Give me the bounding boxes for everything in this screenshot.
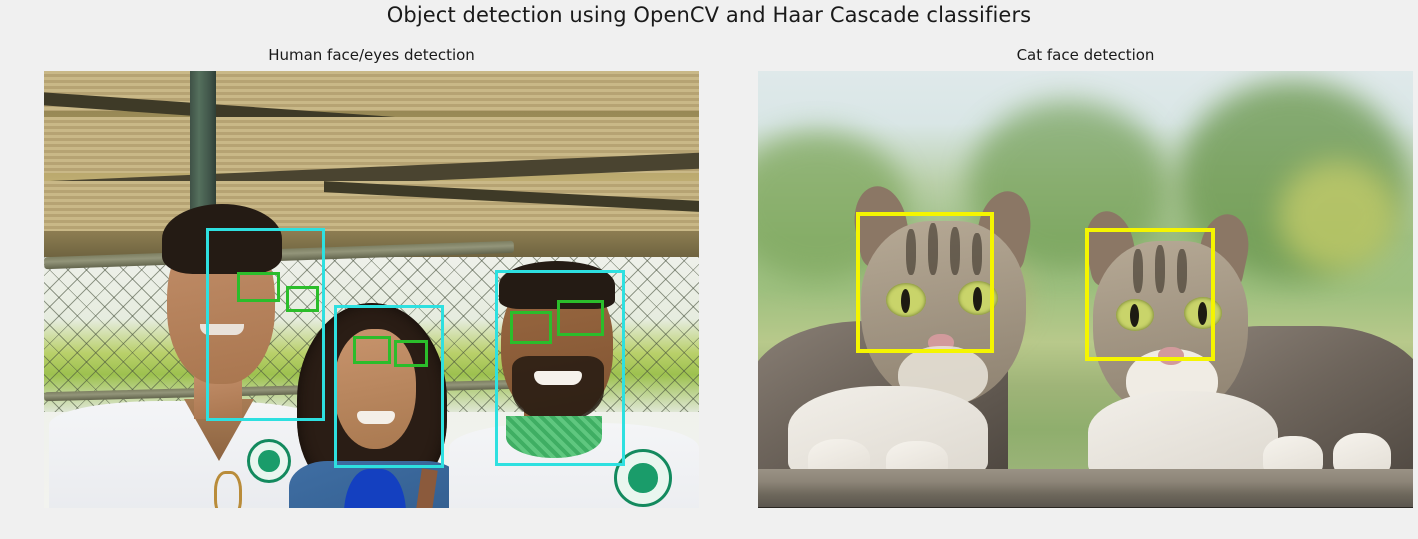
panel-human-title: Human face/eyes detection [44,46,699,64]
eye-detection-box [394,340,428,367]
panel-human-image[interactable]: 0 100 200 300 400 500 600 700 0 200 400 … [44,71,699,508]
person-1-logo [247,439,291,483]
eye-detection-box [237,272,280,302]
face-detection-box [334,305,444,468]
foliage-blob [1278,161,1398,271]
panel-human: Human face/eyes detection [44,71,699,508]
figure-canvas: Object detection using OpenCV and Haar C… [0,0,1418,539]
wooden-plank [758,469,1413,508]
cat-face-detection-box [856,212,994,353]
eye-detection-box [510,311,552,344]
eye-detection-box [286,286,319,312]
panel-cat-image[interactable]: 0 100 200 300 400 500 600 700 0 200 400 … [758,71,1413,508]
person-1-glasses [214,471,242,508]
panel-cat-title: Cat face detection [758,46,1413,64]
eye-detection-box [557,300,604,336]
plank-shadow-line [758,507,1413,508]
eye-detection-box [353,336,391,364]
figure-suptitle: Object detection using OpenCV and Haar C… [0,3,1418,27]
cat-face-detection-box [1085,228,1215,361]
panel-cat: Cat face detection [758,71,1413,508]
face-detection-box [206,228,325,421]
